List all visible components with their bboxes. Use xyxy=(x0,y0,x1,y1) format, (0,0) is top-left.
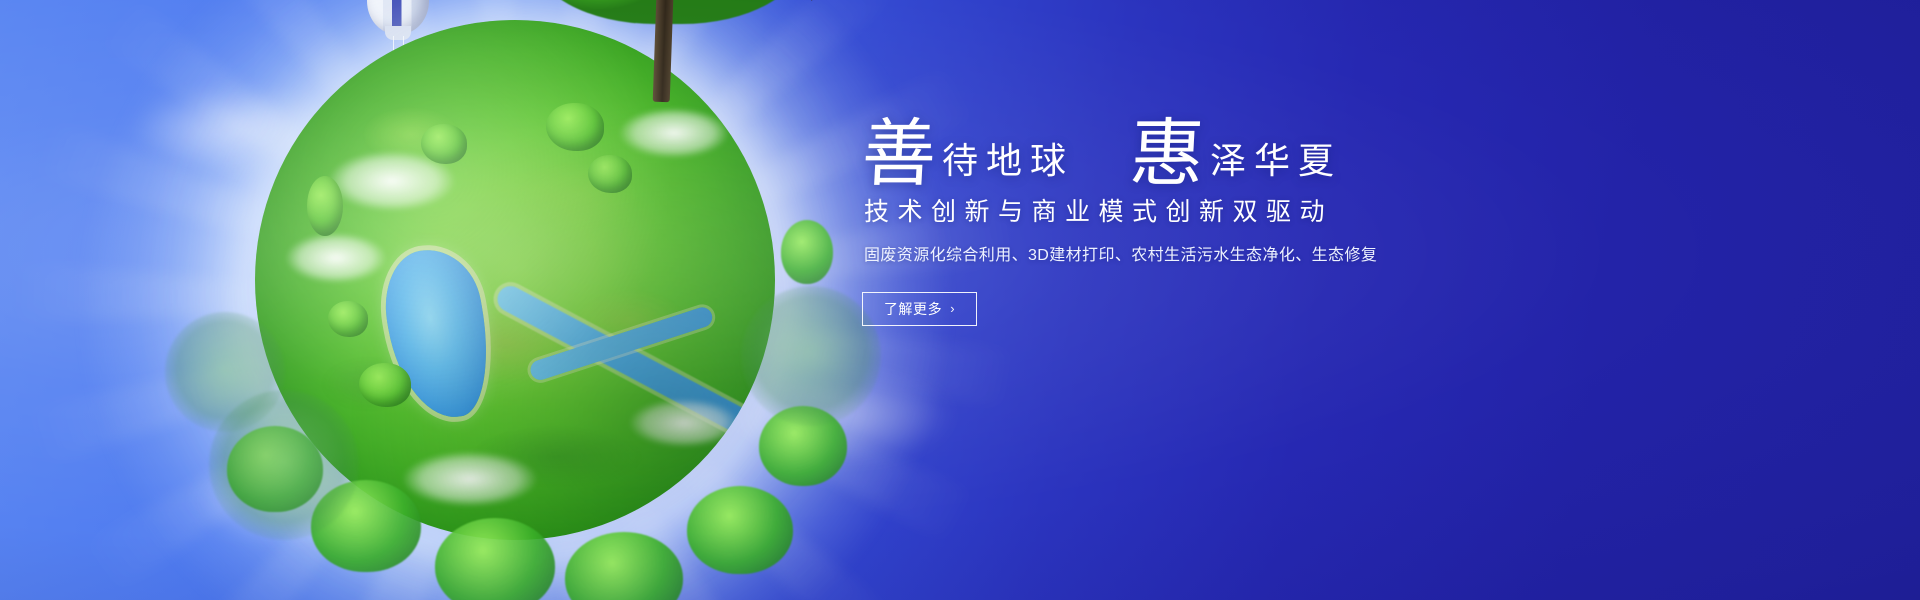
planet-cloud-icon xyxy=(609,103,739,163)
planet-cloud-icon xyxy=(619,394,749,452)
bare-tree xyxy=(741,286,881,426)
river-branch xyxy=(528,305,715,383)
learn-more-button[interactable]: 了解更多 › xyxy=(862,292,977,326)
river xyxy=(493,282,761,441)
hero-copy: 善 待地球 惠 泽华夏 技术创新与商业模式创新双驱动 固废资源化综合利用、3D建… xyxy=(862,120,1622,326)
planet-cloud-icon xyxy=(317,145,467,217)
planet-bush xyxy=(421,124,467,164)
headline-char-hui: 惠 xyxy=(1128,120,1206,188)
ring-tree xyxy=(781,220,833,284)
planet-bush xyxy=(359,363,411,407)
planet-bush xyxy=(546,103,604,151)
planet-bush xyxy=(307,176,343,236)
chevron-right-icon: › xyxy=(950,302,955,315)
tree-trunk xyxy=(653,0,675,102)
description: 固废资源化综合利用、3D建材打印、农村生活污水生态净化、生态修复 xyxy=(864,244,1622,268)
learn-more-label: 了解更多 xyxy=(884,299,942,319)
subtitle: 技术创新与商业模式创新双驱动 xyxy=(864,196,1622,230)
headline: 善 待地球 惠 泽华夏 xyxy=(862,120,1622,188)
tree-on-planet xyxy=(533,0,803,104)
planet-cloud-icon xyxy=(276,228,396,288)
balloon-envelope xyxy=(367,0,429,34)
headline-phrase-zehuaxia: 泽华夏 xyxy=(1204,144,1342,188)
planet-cloud-icon xyxy=(390,446,550,512)
planet-bush xyxy=(588,155,632,193)
bare-tree xyxy=(209,390,359,540)
lake xyxy=(376,242,500,426)
tiny-planet-illustration xyxy=(135,0,895,600)
hero-banner: 善 待地球 惠 泽华夏 技术创新与商业模式创新双驱动 固废资源化综合利用、3D建… xyxy=(0,0,1920,600)
planet-bush xyxy=(328,301,368,337)
headline-char-shan: 善 xyxy=(860,120,938,188)
ring-tree xyxy=(687,486,793,574)
headline-phrase-daidiqiu: 待地球 xyxy=(936,144,1074,188)
